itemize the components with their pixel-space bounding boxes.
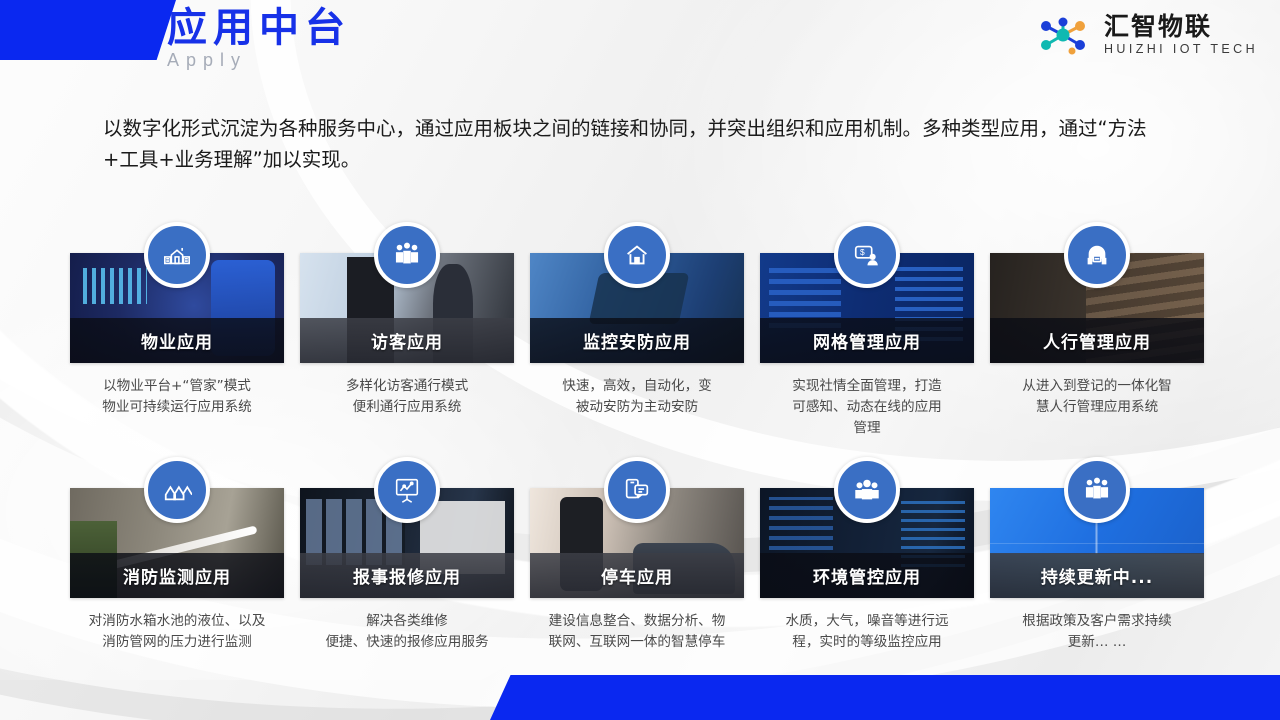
brand-name-cn: 汇智物联 (1104, 14, 1258, 40)
card-description-line: 解决各类维修 (302, 611, 512, 632)
app-card[interactable]: 报事报修应用解决各类维修便捷、快速的报修应用服务 (300, 488, 514, 653)
card-label-band: 物业应用 (70, 318, 284, 363)
card-description: 建设信息整合、数据分析、物联网、互联网一体的智慧停车 (530, 611, 744, 653)
card-title: 环境管控应用 (813, 563, 921, 588)
card-label-band: 监控安防应用 (530, 318, 744, 363)
app-card[interactable]: 持续更新中...根据政策及客户需求持续更新… … (990, 488, 1204, 653)
card-description-line: 物业可持续运行应用系统 (72, 397, 282, 418)
card-title: 报事报修应用 (353, 563, 461, 588)
card-description: 多样化访客通行模式便利通行应用系统 (300, 376, 514, 418)
card-description-line: 管理 (762, 418, 972, 439)
card-description-line: 便捷、快速的报修应用服务 (302, 632, 512, 653)
card-label-band: 持续更新中... (990, 553, 1204, 598)
card-row-1: 物业应用以物业平台+“管家”模式物业可持续运行应用系统访客应用多样化访客通行模式… (70, 253, 1215, 439)
card-label-band: 环境管控应用 (760, 553, 974, 598)
card-description: 快速，高效，自动化，变被动安防为主动安防 (530, 376, 744, 418)
card-description-line: 联网、互联网一体的智慧停车 (532, 632, 742, 653)
face-recognition-icon (1064, 222, 1130, 288)
mobile-message-icon (604, 457, 670, 523)
card-description-line: 便利通行应用系统 (302, 397, 512, 418)
card-title: 访客应用 (371, 328, 443, 353)
app-card[interactable]: 人行管理应用从进入到登记的一体化智慧人行管理应用系统 (990, 253, 1204, 439)
people-group-icon (374, 222, 440, 288)
home-security-icon (604, 222, 670, 288)
app-card[interactable]: 停车应用建设信息整合、数据分析、物联网、互联网一体的智慧停车 (530, 488, 744, 653)
card-description-line: 程，实时的等级监控应用 (762, 632, 972, 653)
card-description: 水质，大气，噪音等进行远程，实时的等级监控应用 (760, 611, 974, 653)
company-logo: 汇智物联 HUIZHI IOT TECH (1032, 14, 1258, 56)
app-card[interactable]: 监控安防应用快速，高效，自动化，变被动安防为主动安防 (530, 253, 744, 439)
card-description-line: 消防管网的压力进行监测 (72, 632, 282, 653)
buildings-icon (144, 222, 210, 288)
app-card[interactable]: 物业应用以物业平台+“管家”模式物业可持续运行应用系统 (70, 253, 284, 439)
card-title: 物业应用 (141, 328, 213, 353)
card-title: 持续更新中... (1041, 563, 1153, 588)
app-card[interactable]: $网格管理应用实现社情全面管理，打造可感知、动态在线的应用管理 (760, 253, 974, 439)
card-label-band: 消防监测应用 (70, 553, 284, 598)
page-title: 应用中台 (167, 4, 351, 52)
card-description: 实现社情全面管理，打造可感知、动态在线的应用管理 (760, 376, 974, 439)
footer-accent-bar (490, 675, 1280, 720)
card-title: 人行管理应用 (1043, 328, 1151, 353)
page-subtitle: Apply (167, 50, 351, 71)
card-label-band: 网格管理应用 (760, 318, 974, 363)
svg-text:$: $ (860, 247, 865, 257)
card-person-icon: $ (834, 222, 900, 288)
card-description-line: 实现社情全面管理，打造 (762, 376, 972, 397)
card-description: 对消防水箱水池的液位、以及消防管网的压力进行监测 (70, 611, 284, 653)
card-description-line: 建设信息整合、数据分析、物 (532, 611, 742, 632)
card-description: 根据政策及客户需求持续更新… … (990, 611, 1204, 653)
card-description-line: 被动安防为主动安防 (532, 397, 742, 418)
card-description-line: 从进入到登记的一体化智 (992, 376, 1202, 397)
card-description: 从进入到登记的一体化智慧人行管理应用系统 (990, 376, 1204, 418)
header-accent-bar (0, 0, 176, 60)
brand-name-en: HUIZHI IOT TECH (1104, 42, 1258, 56)
card-description-line: 快速，高效，自动化，变 (532, 376, 742, 397)
intro-paragraph: 以数字化形式沉淀为各种服务中心，通过应用板块之间的链接和协同，并突出组织和应用机… (103, 113, 1168, 175)
card-title: 消防监测应用 (123, 563, 231, 588)
card-title: 监控安防应用 (583, 328, 691, 353)
app-card[interactable]: 环境管控应用水质，大气，噪音等进行远程，实时的等级监控应用 (760, 488, 974, 653)
card-description-line: 可感知、动态在线的应用 (762, 397, 972, 418)
app-card[interactable]: 消防监测应用对消防水箱水池的液位、以及消防管网的压力进行监测 (70, 488, 284, 653)
app-card[interactable]: 访客应用多样化访客通行模式便利通行应用系统 (300, 253, 514, 439)
card-description: 解决各类维修便捷、快速的报修应用服务 (300, 611, 514, 653)
molecule-network-icon (1032, 14, 1094, 56)
card-description-line: 以物业平台+“管家”模式 (72, 376, 282, 397)
people-trio-icon (834, 457, 900, 523)
card-label-band: 访客应用 (300, 318, 514, 363)
card-label-band: 停车应用 (530, 553, 744, 598)
people-group-icon (1064, 457, 1130, 523)
card-description-line: 慧人行管理应用系统 (992, 397, 1202, 418)
house-roofs-icon (144, 457, 210, 523)
card-title: 网格管理应用 (813, 328, 921, 353)
card-description: 以物业平台+“管家”模式物业可持续运行应用系统 (70, 376, 284, 418)
card-description-line: 根据政策及客户需求持续 (992, 611, 1202, 632)
card-row-2: 消防监测应用对消防水箱水池的液位、以及消防管网的压力进行监测报事报修应用解决各类… (70, 488, 1215, 653)
chart-board-icon (374, 457, 440, 523)
card-description-line: 更新… … (992, 632, 1202, 653)
card-description-line: 多样化访客通行模式 (302, 376, 512, 397)
card-description-line: 水质，大气，噪音等进行远 (762, 611, 972, 632)
card-title: 停车应用 (601, 563, 673, 588)
page-title-block: 应用中台 Apply (167, 4, 351, 71)
card-label-band: 人行管理应用 (990, 318, 1204, 363)
card-label-band: 报事报修应用 (300, 553, 514, 598)
card-description-line: 对消防水箱水池的液位、以及 (72, 611, 282, 632)
